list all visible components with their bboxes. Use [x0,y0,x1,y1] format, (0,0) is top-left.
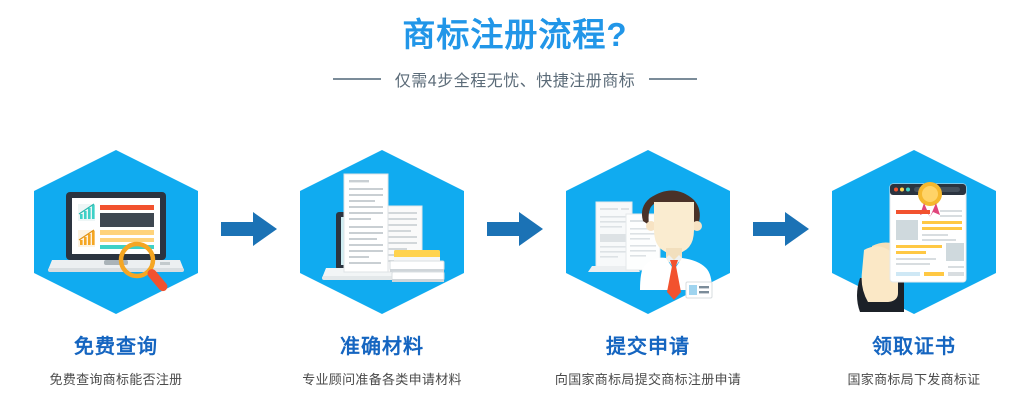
step-3-description: 向国家商标局提交商标注册申请 [555,369,741,388]
rule-right-decoration [649,78,697,80]
right-arrow-icon [221,212,277,246]
right-arrow-icon [487,212,543,246]
step-4-hexagon [832,150,996,314]
right-arrow-icon [753,212,809,246]
hand-certificate-icon [832,150,996,314]
step-3-title: 提交申请 [606,330,690,359]
step-item-2[interactable]: 准确材料 专业顾问准备各类申请材料 [286,150,478,388]
consultant-person-icon [566,150,730,314]
step-2-hexagon [300,150,464,314]
step-item-1[interactable]: 免费查询 免费查询商标能否注册 [20,150,212,388]
arrow-3-4 [744,150,818,246]
arrow-2-3 [478,150,552,246]
header: 商标注册流程? 仅需4步全程无忧、快捷注册商标 [0,0,1030,91]
step-1-title: 免费查询 [74,330,158,359]
documents-books-icon [300,150,464,314]
step-2-title: 准确材料 [340,330,424,359]
page-subtitle: 仅需4步全程无忧、快捷注册商标 [395,67,635,91]
step-3-hexagon [566,150,730,314]
step-1-description: 免费查询商标能否注册 [49,369,182,388]
step-4-title: 领取证书 [872,330,956,359]
page-title: 商标注册流程? [0,14,1030,55]
subtitle-row: 仅需4步全程无忧、快捷注册商标 [0,67,1030,91]
laptop-search-icon [34,150,198,314]
arrow-1-2 [212,150,286,246]
steps-row: 免费查询 免费查询商标能否注册 [0,150,1030,388]
step-1-hexagon [34,150,198,314]
rule-left-decoration [333,78,381,80]
step-item-3[interactable]: 提交申请 向国家商标局提交商标注册申请 [552,150,744,388]
step-4-description: 国家商标局下发商标证 [847,369,980,388]
step-2-description: 专业顾问准备各类申请材料 [302,369,462,388]
step-item-4[interactable]: 领取证书 国家商标局下发商标证 [818,150,1010,388]
